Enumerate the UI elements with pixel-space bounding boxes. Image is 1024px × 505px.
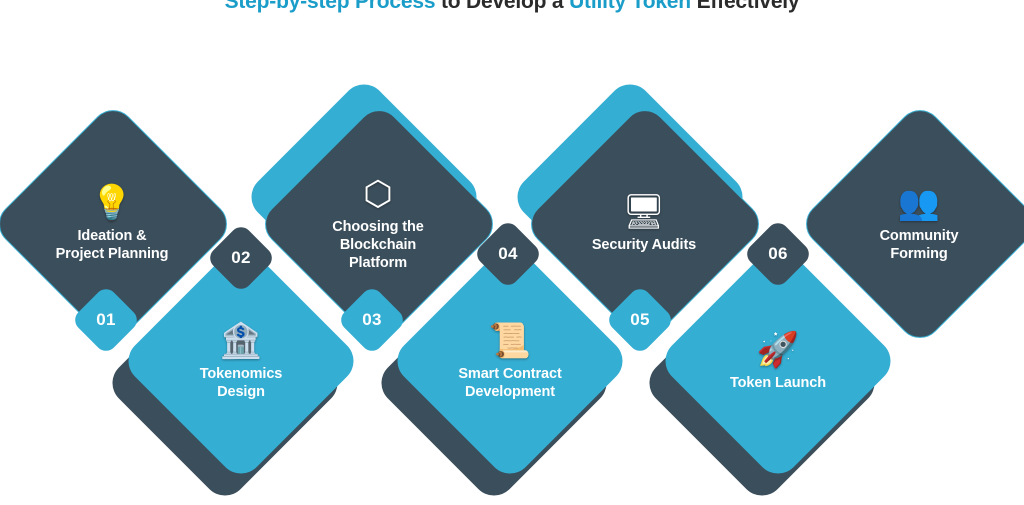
step-label: Security Audits <box>569 236 719 254</box>
badge-number: 02 <box>216 233 266 283</box>
step-label-line-1: Smart Contract <box>435 365 585 383</box>
step-label-line-2: Design <box>166 383 316 401</box>
step-label: Choosing the Blockchain Platform <box>303 218 453 272</box>
step-badge-05[interactable]: 05 <box>615 295 665 345</box>
step-node-02[interactable]: 🏦 Tokenomics Design <box>155 275 327 447</box>
step-label-line-1: Security Audits <box>569 236 719 254</box>
step-badge-04[interactable]: 04 <box>483 229 533 279</box>
step-label-line-1: Ideation & <box>37 227 187 245</box>
step-label: Token Launch <box>703 374 853 392</box>
step-label-line-2: Project Planning <box>37 245 187 263</box>
step-label-line-1: Token Launch <box>703 374 853 392</box>
step-label-line-2: Development <box>435 383 585 401</box>
step-label-line-1: Tokenomics <box>166 365 316 383</box>
step-label-line-1: Choosing the <box>303 218 453 236</box>
community-people-icon: 👥 <box>898 183 940 223</box>
step-label: Community Forming <box>844 227 994 263</box>
step-label: Smart Contract Development <box>435 365 585 401</box>
monitor-audit-icon: 🖥 <box>622 192 665 232</box>
step-badge-02[interactable]: 02 <box>216 233 266 283</box>
badge-number: 06 <box>753 229 803 279</box>
step-label-line-1: Community <box>844 227 994 245</box>
step-label: Ideation & Project Planning <box>37 227 187 263</box>
step-badge-01[interactable]: 01 <box>81 295 131 345</box>
badge-number: 05 <box>615 295 665 345</box>
step-label-line-2: Forming <box>844 245 994 263</box>
step-label: Tokenomics Design <box>166 365 316 401</box>
contract-scroll-icon: 📜 <box>489 321 531 361</box>
step-badge-06[interactable]: 06 <box>753 229 803 279</box>
step-label-line-3: Platform <box>303 254 453 272</box>
step-content: 🏦 Tokenomics Design <box>155 275 327 447</box>
step-node-06[interactable]: 🚀 Token Launch <box>692 275 864 447</box>
blockchain-network-icon: ⬡ <box>363 174 393 214</box>
bank-coin-icon: 🏦 <box>220 321 262 361</box>
step-label-line-2: Blockchain <box>303 236 453 254</box>
step-content: 🚀 Token Launch <box>692 275 864 447</box>
step-badge-03[interactable]: 03 <box>347 295 397 345</box>
step-node-04[interactable]: 📜 Smart Contract Development <box>424 275 596 447</box>
process-diagram: 💡 Ideation & Project Planning ⬡ Choosing… <box>0 0 1024 494</box>
lightbulb-gear-icon: 💡 <box>91 183 133 223</box>
badge-number: 04 <box>483 229 533 279</box>
badge-number: 03 <box>347 295 397 345</box>
badge-number: 01 <box>81 295 131 345</box>
step-content: 📜 Smart Contract Development <box>424 275 596 447</box>
rocket-coin-icon: 🚀 <box>757 330 799 370</box>
